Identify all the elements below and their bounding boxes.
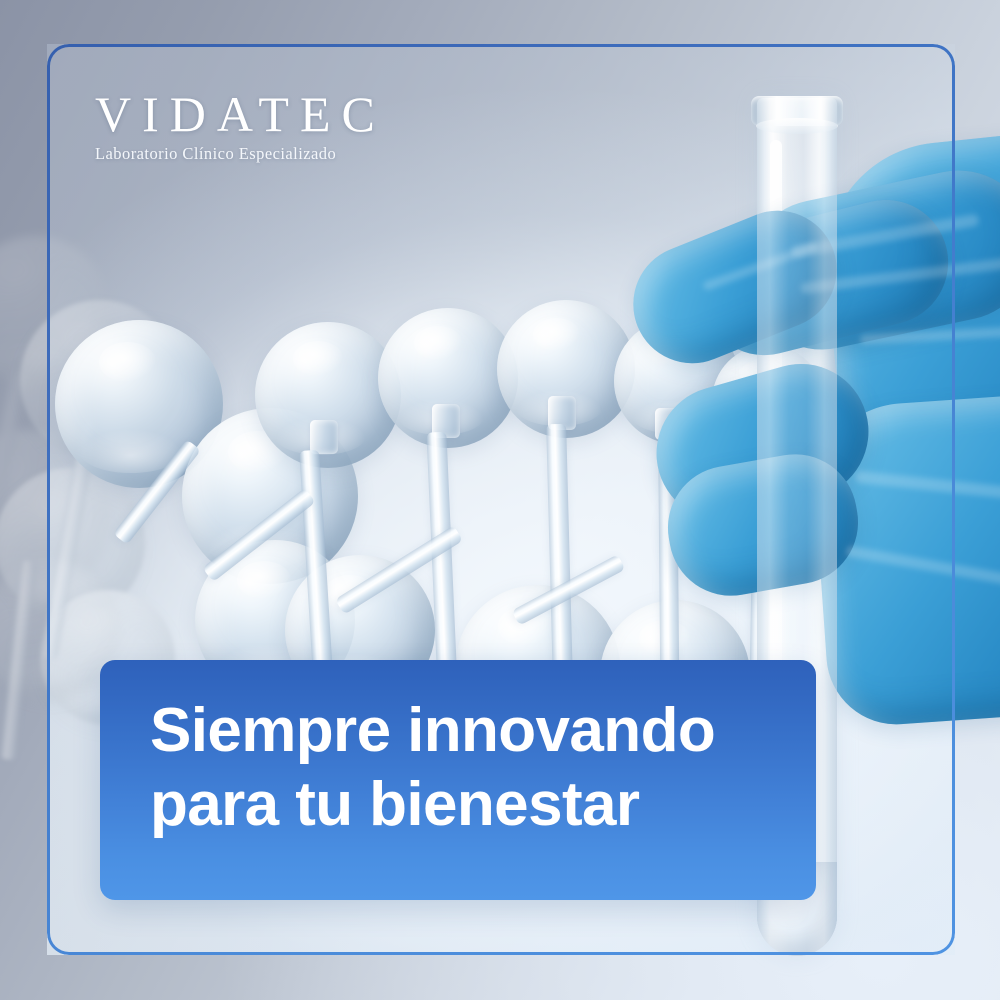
brand-name: VIDATEC xyxy=(95,88,386,140)
headline-banner: Siempre innovando para tu bienestar xyxy=(100,660,816,900)
promotional-poster: VIDATEC Laboratorio Clínico Especializad… xyxy=(0,0,1000,1000)
headline-text: Siempre innovando para tu bienestar xyxy=(150,694,790,842)
headline-line-2: para tu bienestar xyxy=(150,768,790,842)
brand-logo: VIDATEC Laboratorio Clínico Especializad… xyxy=(95,88,386,164)
brand-tagline: Laboratorio Clínico Especializado xyxy=(95,144,386,164)
headline-line-1: Siempre innovando xyxy=(150,694,790,768)
